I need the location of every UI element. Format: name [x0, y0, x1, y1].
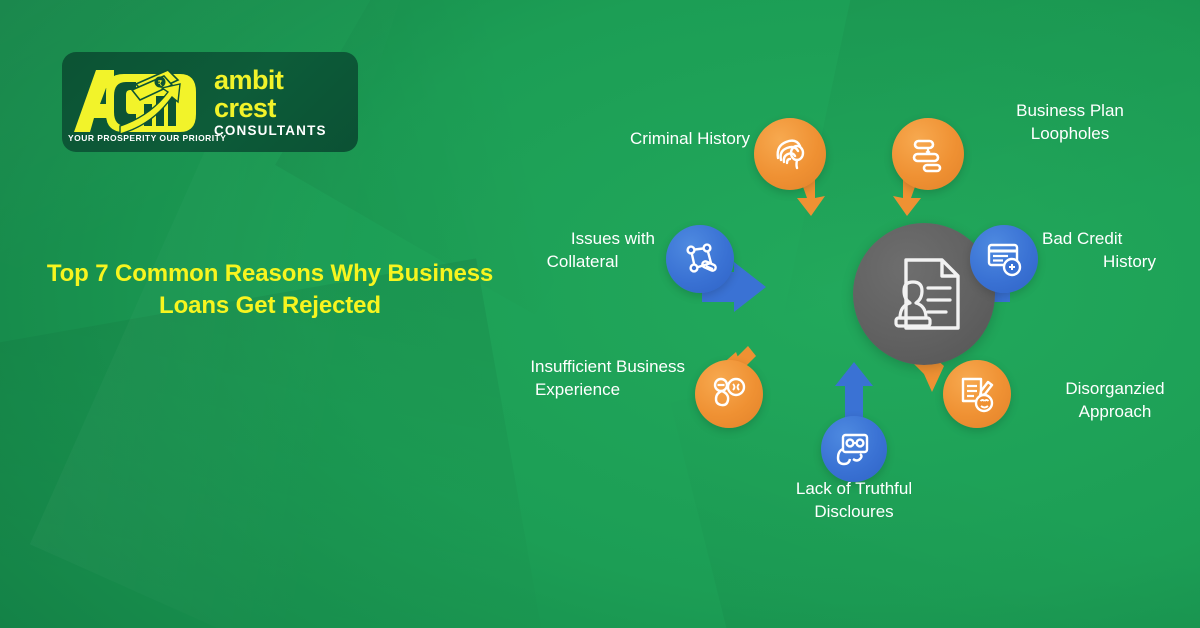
label-issues-with-collateral: Issues with Collateral: [510, 228, 655, 274]
logo-word-consultants: CONSULTANTS: [214, 124, 358, 138]
label-criminal-history: Criminal History: [570, 128, 750, 151]
logo-mark-icon: ₹ YOUR PROSPERITY OUR PRIORITY: [62, 54, 212, 150]
label-lack-of-truthful-discloures: Lack of Truthful Discloures: [744, 478, 964, 524]
label-insufficient-business-experience: Insufficient Business Experience: [470, 356, 685, 402]
logo-word-ambit: ambit: [214, 67, 358, 94]
experience-gauge-icon: [709, 374, 749, 414]
asset-network-icon: [680, 239, 720, 279]
infographic-canvas: ₹ YOUR PROSPERITY OUR PRIORITY ambit cre…: [0, 0, 1200, 628]
node-lack-of-truthful-discloures[interactable]: [821, 416, 887, 482]
fingerprint-icon: [770, 134, 810, 174]
flowchart-icon: [908, 134, 948, 174]
mask-disguise-icon: [834, 429, 874, 469]
label-business-plan-loopholes: Business Plan Loopholes: [960, 100, 1180, 146]
document-edit-icon: [957, 375, 997, 413]
node-issues-with-collateral[interactable]: [666, 225, 734, 293]
node-business-plan-loopholes[interactable]: [892, 118, 964, 190]
document-person-stamp-icon: [884, 252, 964, 336]
label-bad-credit-history: Bad Credit History: [1042, 228, 1200, 274]
label-disorganzied-approach: Disorganzied Approach: [1015, 378, 1200, 424]
credit-card-icon: [984, 240, 1024, 278]
logo-wordmark: ambit crest CONSULTANTS: [212, 67, 358, 138]
node-disorganzied-approach[interactable]: [943, 360, 1011, 428]
node-bad-credit-history[interactable]: [970, 225, 1038, 293]
page-title: Top 7 Common Reasons Why Business Loans …: [20, 258, 520, 321]
logo-tagline: YOUR PROSPERITY OUR PRIORITY: [68, 133, 224, 143]
svg-text:₹: ₹: [157, 79, 162, 88]
logo-word-crest: crest: [214, 95, 358, 122]
brand-logo[interactable]: ₹ YOUR PROSPERITY OUR PRIORITY ambit cre…: [62, 52, 358, 152]
hub-and-spoke-diagram: Criminal History Business Plan Loopholes: [470, 20, 1200, 600]
node-insufficient-business-experience[interactable]: [695, 360, 763, 428]
node-criminal-history[interactable]: [754, 118, 826, 190]
